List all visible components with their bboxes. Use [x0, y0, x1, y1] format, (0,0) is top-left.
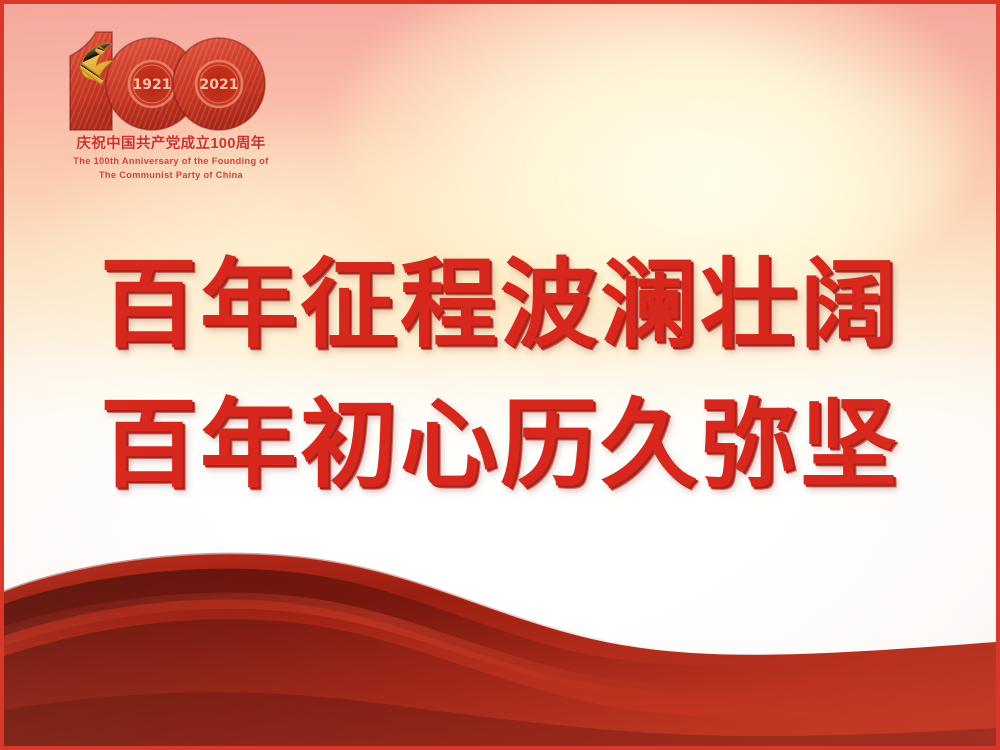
emblem-caption-chinese: 庆祝中国共产党成立100周年 [46, 136, 296, 153]
headline-line-1: 百年征程波澜壮阔 [4, 236, 996, 374]
red-silk-wave [4, 496, 996, 746]
poster-canvas: 1921 2021 庆祝中国共产党成立100周年 The 100th Anniv… [0, 0, 1000, 750]
emblem-caption-english-line-1: The 100th Anniversary of the Founding of [46, 155, 296, 167]
emblem-digit-zero-right: 2021 [173, 38, 265, 130]
cpc-centenary-emblem: 1921 2021 庆祝中国共产党成立100周年 The 100th Anniv… [46, 22, 296, 182]
emblem-year-left: 1921 [133, 77, 172, 93]
headline-slogan: 百年征程波澜壮阔 百年初心历久弥坚 [4, 236, 996, 514]
emblem-caption-english-line-2: The Communist Party of China [46, 169, 296, 181]
emblem-year-right: 2021 [200, 77, 239, 93]
headline-line-2: 百年初心历久弥坚 [4, 376, 996, 514]
emblem-100-mark: 1921 2021 [56, 22, 268, 134]
